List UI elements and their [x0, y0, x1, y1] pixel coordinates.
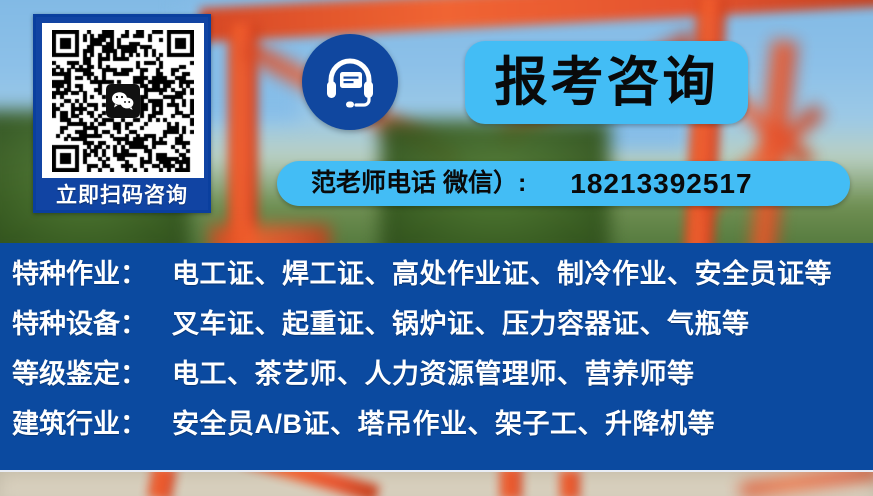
info-row-category: 特种作业：: [12, 261, 172, 288]
contact-pill[interactable]: 范老师电话 微信）: 18213392517: [277, 161, 850, 206]
qr-code[interactable]: [52, 30, 194, 172]
certification-list-panel: 特种作业： 电工证、焊工证、高处作业证、制冷作业、安全员证等 特种设备： 叉车证…: [0, 243, 873, 472]
info-row-category: 等级鉴定：: [12, 361, 172, 388]
info-row: 建筑行业： 安全员A/B证、塔吊作业、架子工、升降机等: [12, 411, 873, 461]
info-row: 特种作业： 电工证、焊工证、高处作业证、制冷作业、安全员证等: [12, 261, 873, 311]
qr-code-frame: [42, 23, 204, 178]
info-row: 特种设备： 叉车证、起重证、锅炉证、压力容器证、气瓶等: [12, 311, 873, 361]
qr-caption: 立即扫码咨询: [36, 185, 208, 206]
page-title: 报考咨询: [495, 56, 719, 109]
info-row-items: 叉车证、起重证、锅炉证、压力容器证、气瓶等: [172, 311, 750, 338]
headset-chat-icon: [302, 34, 398, 130]
info-row-items: 电工、茶艺师、人力资源管理师、营养师等: [172, 361, 695, 388]
crane-leg: [560, 470, 580, 496]
qr-card[interactable]: 立即扫码咨询: [33, 14, 211, 213]
wechat-icon: [106, 84, 140, 118]
info-row-items: 电工证、焊工证、高处作业证、制冷作业、安全员证等: [172, 261, 832, 288]
contact-phone-number[interactable]: 18213392517: [570, 170, 752, 198]
promo-poster: 立即扫码咨询 报考咨询 范老师电话 微信）: 18213392517 特种作业：…: [0, 0, 873, 496]
info-row-category: 特种设备：: [12, 311, 172, 338]
info-row: 等级鉴定： 电工、茶艺师、人力资源管理师、营养师等: [12, 361, 873, 411]
title-pill: 报考咨询: [465, 41, 748, 124]
info-row-category: 建筑行业：: [12, 411, 172, 438]
info-row-items: 安全员A/B证、塔吊作业、架子工、升降机等: [172, 411, 715, 438]
contact-label: 范老师电话 微信）:: [311, 171, 526, 196]
